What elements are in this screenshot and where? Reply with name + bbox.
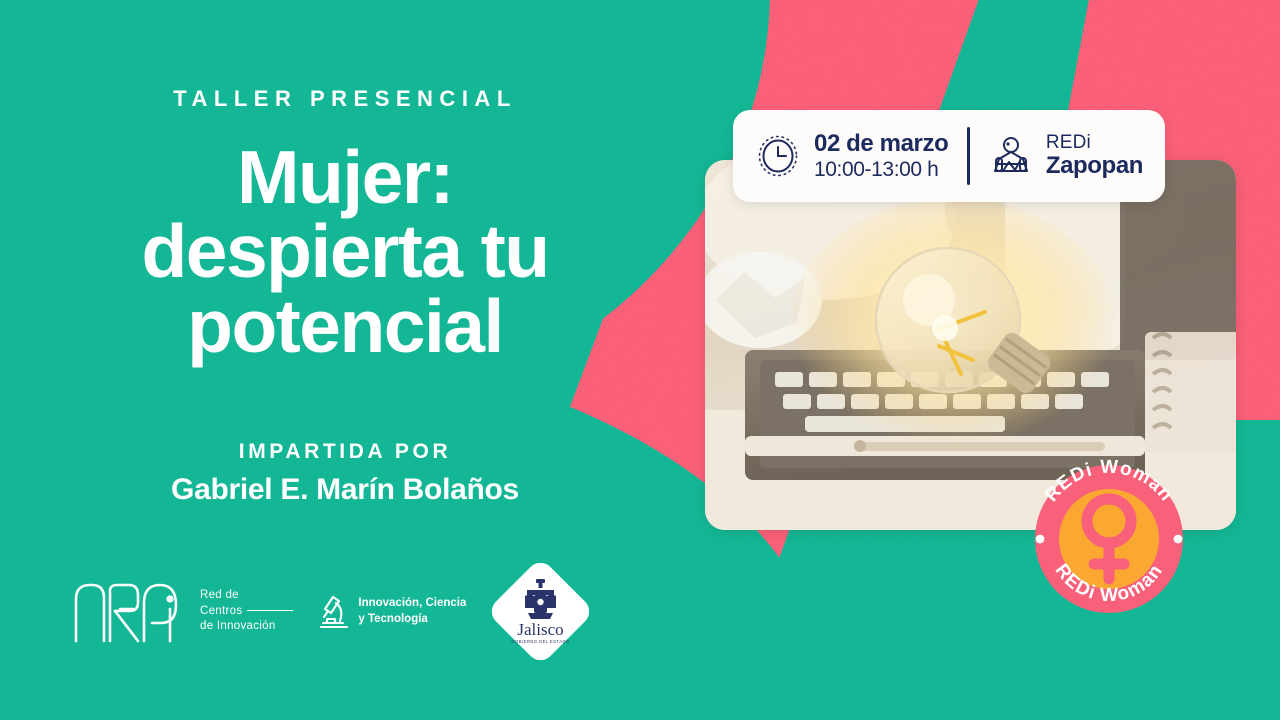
jalisco-tagline: GOBIERNO DEL ESTADO [512, 639, 570, 644]
venue-group: REDi Zapopan [989, 132, 1143, 180]
kicker-label: TALLER PRESENCIAL [0, 86, 690, 112]
date-time-text: 02 de marzo 10:00-13:00 h [814, 131, 948, 181]
redi-line-2: Centros [200, 605, 242, 617]
poster-stage: TALLER PRESENCIAL Mujer: despierta tu po… [0, 0, 1280, 720]
redi-line-3: de Innovación [200, 619, 293, 635]
event-date: 02 de marzo [814, 131, 948, 158]
redi-woman-badge: REDi Woman REDi Woman [1021, 451, 1197, 627]
event-time: 10:00-13:00 h [814, 158, 948, 182]
logo-strip: Red de Centros de Innovación Innovación,… [70, 563, 589, 660]
ict-logo: Innovación, Ciencia y Tecnología [319, 593, 466, 631]
redi-rule [247, 610, 293, 611]
jalisco-logo: Jalisco GOBIERNO DEL ESTADO [492, 563, 589, 660]
card-divider [967, 127, 970, 185]
date-time-group: 02 de marzo 10:00-13:00 h [757, 131, 948, 181]
redi-logo-text: Red de Centros de Innovación [200, 588, 293, 636]
title-line-1: Mujer: [0, 140, 690, 214]
venue-city: Zapopan [1046, 153, 1143, 180]
event-info-card: 02 de marzo 10:00-13:00 h REDi [733, 110, 1165, 202]
clock-icon [757, 134, 801, 178]
page-title: Mujer: despierta tu potencial [0, 140, 690, 363]
venue-brand: REDi [1046, 132, 1143, 153]
redi-logo: Red de Centros de Innovación [70, 579, 293, 645]
ict-logo-text: Innovación, Ciencia y Tecnología [358, 596, 466, 627]
ict-line-1: Innovación, Ciencia [358, 596, 466, 612]
speaker-name: Gabriel E. Marín Bolaños [0, 473, 690, 507]
person-map-icon [989, 134, 1033, 178]
title-line-2: despierta tu [0, 214, 690, 288]
microscope-icon [319, 593, 349, 631]
title-line-3: potencial [0, 289, 690, 363]
ict-line-2: y Tecnología [358, 612, 466, 628]
redi-logo-mark [70, 579, 188, 645]
venue-text: REDi Zapopan [1046, 132, 1143, 180]
redi-line-1: Red de [200, 588, 293, 604]
jalisco-name: Jalisco [518, 620, 564, 639]
speaker-label: IMPARTIDA POR [0, 440, 690, 464]
